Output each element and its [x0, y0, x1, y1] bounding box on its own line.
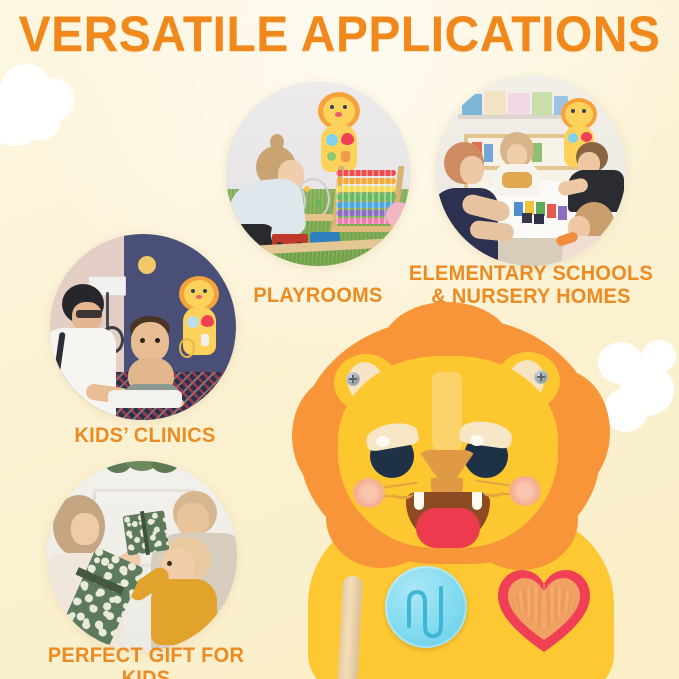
photo-kids-clinics [50, 234, 236, 420]
lion-fang-right [472, 492, 482, 510]
gift-baby [139, 537, 225, 649]
lion-fang-left [414, 492, 424, 510]
zigzag-path-icon [385, 566, 467, 648]
photo-perfect-gift [47, 461, 237, 651]
lion-eye-highlight-right [470, 435, 484, 446]
gift-scene [47, 461, 237, 651]
bear-sticker [138, 256, 156, 274]
photo-playrooms [226, 82, 410, 266]
lion-eye-highlight-left [376, 436, 390, 447]
book-ledge [458, 90, 570, 120]
lion-busy-board-product [300, 318, 679, 679]
blue-zigzag-bead-slider[interactable] [385, 566, 467, 648]
caption-line-1: ELEMENTARY SCHOOLS [408, 262, 655, 285]
clinic-scene [50, 234, 236, 420]
lion-smile-line-right [482, 480, 504, 497]
wreath-garland [99, 461, 185, 483]
playroom-scene [226, 82, 410, 266]
lion-muzzle-stripe [432, 372, 462, 456]
cloud-top-left-decoration [0, 60, 94, 150]
lion-tongue [416, 508, 480, 548]
lion-smile-line-left [392, 482, 414, 499]
versatile-applications-banner: VERSATILE APPLICATIONS [0, 0, 679, 679]
caption-playrooms: PLAYROOMS [202, 284, 434, 307]
page-title: VERSATILE APPLICATIONS [14, 6, 666, 62]
ear-screw-left-icon [346, 372, 360, 386]
child-front-right [556, 202, 626, 266]
exam-towel [108, 390, 182, 408]
child-seated-left [492, 132, 542, 196]
heart-icon [492, 564, 596, 660]
classroom-scene [436, 76, 626, 266]
lion-cheek-right [508, 476, 542, 506]
caption-kids-clinics: KIDS’ CLINICS [32, 424, 258, 447]
caption-perfect-gift: PERFECT GIFT FOR KIDS [24, 644, 267, 679]
photo-elementary-schools [436, 76, 626, 266]
heart-fur-patch[interactable] [492, 564, 596, 660]
ear-screw-right-icon [534, 370, 548, 384]
lion-cheek-left [352, 478, 386, 508]
play-ball [386, 202, 410, 228]
